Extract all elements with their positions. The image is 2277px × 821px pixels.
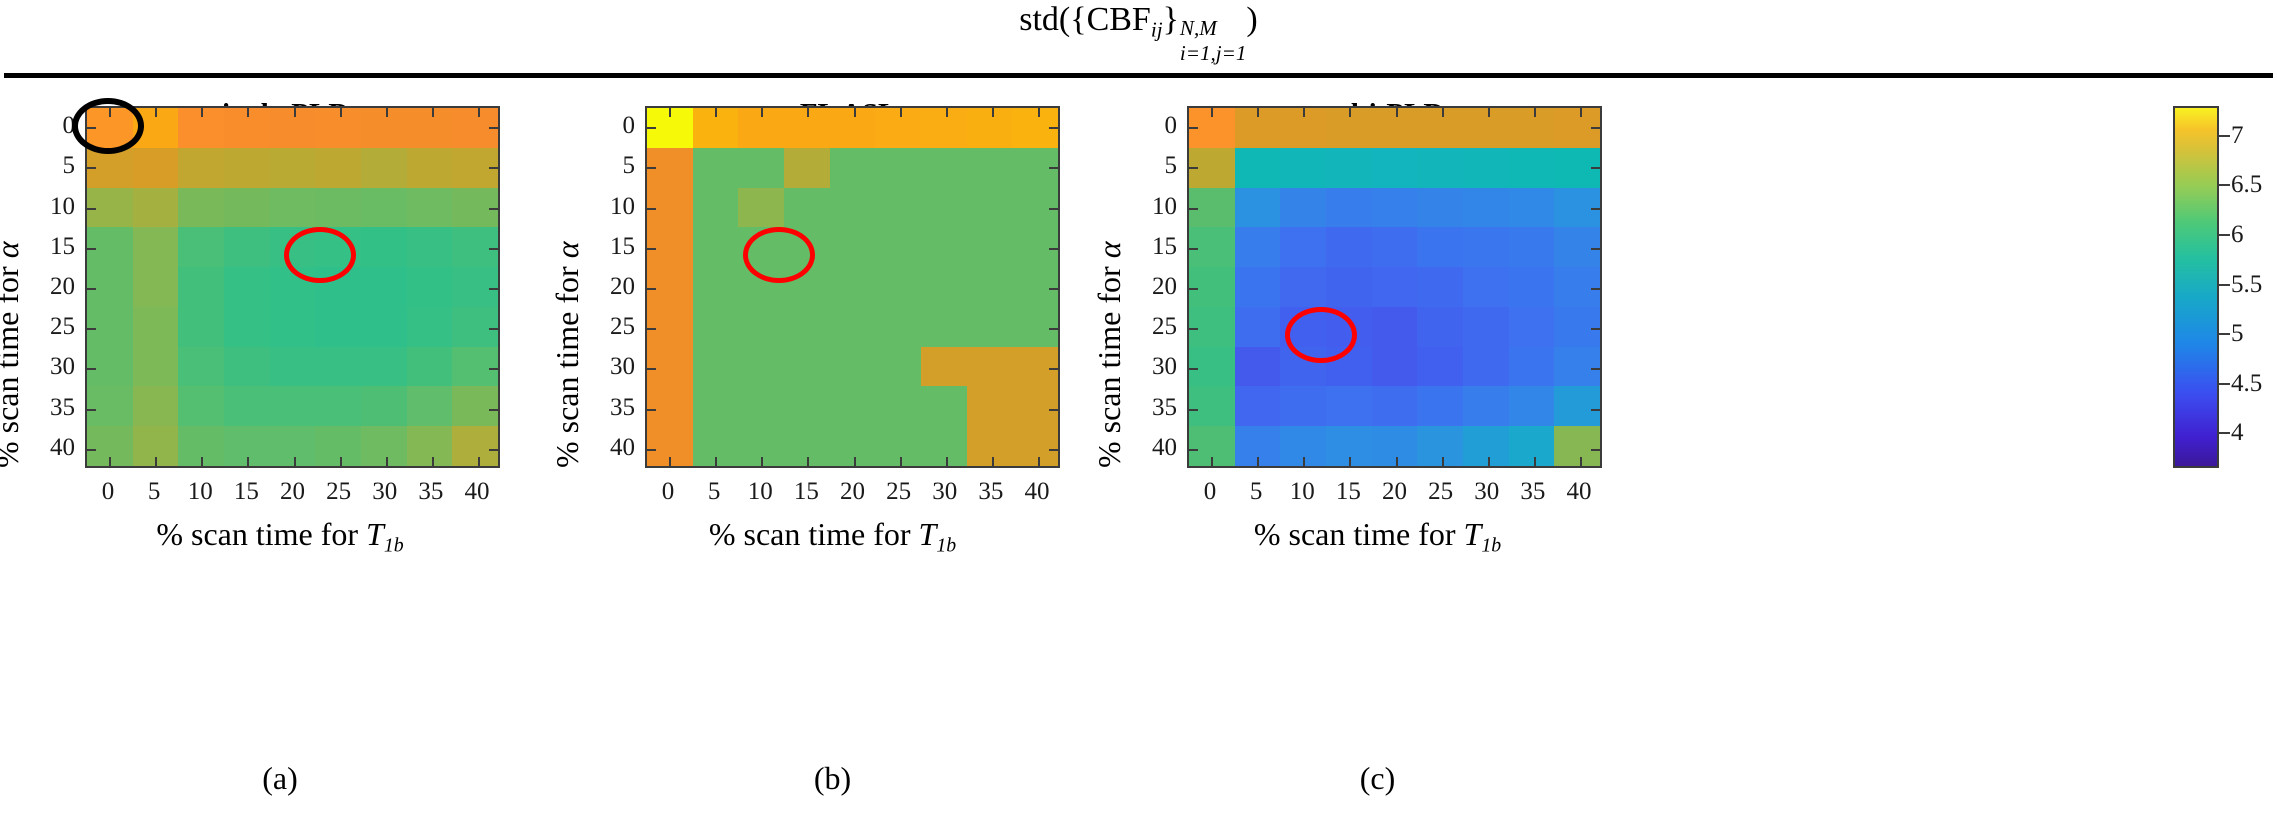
heatmap-cell (1280, 227, 1326, 267)
heatmap-cell (1417, 347, 1463, 387)
x-tick-mark (432, 457, 434, 466)
y-axis-title-symbol: α (0, 242, 25, 259)
heatmap-cell (784, 188, 830, 228)
heatmap-cell (407, 148, 453, 188)
x-tick-mark (294, 457, 296, 466)
y-tick-mark (489, 328, 498, 330)
heatmap-cell (921, 347, 967, 387)
heatmap-cell (1012, 307, 1058, 347)
y-tick-mark (1591, 167, 1600, 169)
x-tick-label: 20 (280, 478, 305, 506)
red-ellipse-marker (284, 227, 356, 283)
y-tick-label: 15 (25, 233, 75, 261)
heatmap-cell (224, 347, 270, 387)
heatmap-cell (1554, 347, 1600, 387)
heatmap-cell (1189, 267, 1235, 307)
heatmap-cell (178, 188, 224, 228)
heatmap-cell (1372, 347, 1418, 387)
heatmap-cell (1326, 188, 1372, 228)
heatmap-cell (1463, 267, 1509, 307)
heatmap-cell (361, 188, 407, 228)
heatmap-cell (875, 108, 921, 148)
x-tick-mark (992, 457, 994, 466)
y-tick-mark (1591, 208, 1600, 210)
heatmap-cell (1189, 347, 1235, 387)
panel-c: multi-PLD0510152025303540051015202530354… (1105, 0, 1650, 821)
heatmap-cell (270, 148, 316, 188)
heatmap-cell (784, 347, 830, 387)
y-tick-label: 5 (25, 152, 75, 180)
x-tick-label: 15 (234, 478, 259, 506)
y-axis-title: % scan time for α (1091, 242, 1128, 469)
y-axis-title: % scan time for α (0, 242, 26, 469)
heatmap-cell (133, 267, 179, 307)
x-tick-label: 40 (1024, 478, 1049, 506)
heatmap-cell (1554, 386, 1600, 426)
colorbar-tick-mark (2219, 333, 2230, 335)
colorbar-tick-label: 4 (2231, 419, 2244, 447)
x-tick-label: 20 (840, 478, 865, 506)
x-tick-mark (854, 108, 856, 117)
heatmap-cell (647, 386, 693, 426)
y-tick-mark (647, 288, 656, 290)
heatmap-cell (1463, 347, 1509, 387)
y-tick-mark (1049, 368, 1058, 370)
heatmap-cell (452, 307, 498, 347)
y-tick-mark (1049, 248, 1058, 250)
heatmap-cell (921, 386, 967, 426)
x-tick-label: 25 (326, 478, 351, 506)
colorbar-tick-label: 7 (2231, 122, 2244, 150)
heatmap-cell (315, 426, 361, 466)
heatmap-cell (830, 347, 876, 387)
panel-caption-a: (a) (0, 760, 560, 797)
heatmap-cell (967, 386, 1013, 426)
y-tick-mark (1591, 127, 1600, 129)
heatmap-cell (738, 148, 784, 188)
heatmap-cell (1509, 108, 1555, 148)
heatmap-cell (270, 188, 316, 228)
heatmap-cell (1372, 188, 1418, 228)
y-tick-label: 30 (25, 353, 75, 381)
heatmap-cell (452, 267, 498, 307)
heatmap-cell (1509, 386, 1555, 426)
heatmap-cell (224, 227, 270, 267)
x-axis-title-text: % scan time for (1254, 516, 1464, 552)
heatmap-cell (1012, 426, 1058, 466)
heatmap-cell (693, 267, 739, 307)
heatmap-cell (784, 307, 830, 347)
y-tick-label: 0 (1127, 112, 1177, 140)
y-tick-mark (489, 127, 498, 129)
heatmap-cell (875, 267, 921, 307)
y-tick-label: 30 (1127, 353, 1177, 381)
colorbar-tick-label: 5.5 (2231, 271, 2262, 299)
heatmap-cell (1463, 188, 1509, 228)
heatmap-cell (1509, 148, 1555, 188)
panel-caption-b: (b) (560, 760, 1105, 797)
heatmap-cell (407, 347, 453, 387)
y-tick-mark (1189, 167, 1198, 169)
x-axis-title-text: % scan time for (156, 516, 366, 552)
y-tick-mark (87, 328, 96, 330)
heatmap-cell (1235, 148, 1281, 188)
x-tick-mark (1257, 108, 1259, 117)
x-tick-mark (1580, 457, 1582, 466)
heatmap-cell (178, 347, 224, 387)
y-tick-mark (647, 167, 656, 169)
x-axis-title-subscript: 1b (384, 534, 404, 556)
colorbar-tick-mark (2219, 432, 2230, 434)
heatmap-cell (133, 227, 179, 267)
x-tick-mark (1488, 108, 1490, 117)
heatmap-cell (1417, 227, 1463, 267)
x-tick-label: 20 (1382, 478, 1407, 506)
x-tick-label: 5 (1250, 478, 1263, 506)
heatmap-cell (315, 386, 361, 426)
colorbar-tick-mark (2219, 234, 2230, 236)
heatmap-cell (407, 227, 453, 267)
heatmap-cell (738, 386, 784, 426)
heatmap-cell (921, 148, 967, 188)
heatmap-cell (1509, 267, 1555, 307)
y-tick-mark (1591, 449, 1600, 451)
y-axis-title-symbol: α (549, 242, 585, 259)
y-tick-mark (1591, 409, 1600, 411)
x-tick-mark (669, 108, 671, 117)
heatmap-cell (784, 148, 830, 188)
x-tick-mark (386, 108, 388, 117)
x-axis-title-text: % scan time for (709, 516, 919, 552)
x-tick-mark (386, 457, 388, 466)
x-axis-title: % scan time for T1b (560, 516, 1105, 557)
heatmap-cell (967, 108, 1013, 148)
heatmap-cell (1554, 267, 1600, 307)
heatmap-cell (1280, 148, 1326, 188)
y-tick-mark (87, 449, 96, 451)
heatmap-cell (830, 108, 876, 148)
heatmap-grid (1189, 108, 1600, 466)
heatmap-cell (1189, 386, 1235, 426)
x-tick-mark (201, 457, 203, 466)
heatmap-cell (178, 148, 224, 188)
x-tick-mark (247, 108, 249, 117)
y-tick-label: 30 (585, 353, 635, 381)
y-tick-mark (489, 208, 498, 210)
heatmap-cell (875, 386, 921, 426)
x-tick-mark (1396, 108, 1398, 117)
y-tick-mark (87, 288, 96, 290)
heatmap-cell (224, 307, 270, 347)
heatmap-cell (407, 386, 453, 426)
heatmap-cell (407, 307, 453, 347)
y-tick-mark (489, 248, 498, 250)
y-tick-mark (87, 167, 96, 169)
x-tick-mark (1349, 457, 1351, 466)
x-tick-mark (1211, 457, 1213, 466)
y-tick-label: 5 (1127, 152, 1177, 180)
x-axis-title: % scan time for T1b (0, 516, 560, 557)
x-tick-mark (1396, 457, 1398, 466)
colorbar-gradient (2173, 106, 2219, 468)
x-tick-mark (1257, 457, 1259, 466)
heatmap-cell (875, 307, 921, 347)
heatmap-cell (1372, 307, 1418, 347)
heatmap-cell (1463, 426, 1509, 466)
x-axis-title-subscript: 1b (1481, 534, 1501, 556)
heatmap-cell (738, 307, 784, 347)
heatmap-b[interactable] (645, 106, 1060, 468)
colorbar-tick-mark (2219, 135, 2230, 137)
heatmap-cell (315, 188, 361, 228)
x-axis-title-symbol: T (366, 516, 384, 552)
heatmap-cell (1372, 386, 1418, 426)
x-tick-mark (432, 108, 434, 117)
x-tick-mark (1211, 108, 1213, 117)
x-tick-mark (1038, 457, 1040, 466)
x-tick-mark (900, 108, 902, 117)
heatmap-cell (830, 426, 876, 466)
heatmap-cell (738, 188, 784, 228)
x-tick-mark (1580, 108, 1582, 117)
heatmap-cell (784, 386, 830, 426)
x-tick-mark (1488, 457, 1490, 466)
heatmap-cell (224, 188, 270, 228)
heatmap-cell (270, 108, 316, 148)
heatmap-cell (921, 426, 967, 466)
heatmap-cell (407, 267, 453, 307)
y-tick-mark (489, 288, 498, 290)
black-ellipse-marker (72, 98, 144, 154)
heatmap-cell (921, 108, 967, 148)
x-tick-mark (340, 457, 342, 466)
x-tick-mark (669, 457, 671, 466)
x-tick-label: 25 (886, 478, 911, 506)
heatmap-cell (693, 188, 739, 228)
heatmap-cell (1417, 148, 1463, 188)
heatmap-c[interactable] (1187, 106, 1602, 468)
y-tick-label: 25 (1127, 313, 1177, 341)
heatmap-cell (1372, 426, 1418, 466)
heatmap-cell (361, 386, 407, 426)
colorbar-tick-label: 5 (2231, 320, 2244, 348)
heatmap-cell (407, 188, 453, 228)
x-tick-label: 30 (1474, 478, 1499, 506)
x-tick-label: 40 (464, 478, 489, 506)
heatmap-cell (178, 267, 224, 307)
heatmap-cell (361, 307, 407, 347)
heatmap-cell (693, 386, 739, 426)
heatmap-cell (87, 386, 133, 426)
colorbar-tick-label: 6 (2231, 221, 2244, 249)
heatmap-cell (407, 108, 453, 148)
x-tick-mark (1303, 457, 1305, 466)
heatmap-cell (1463, 148, 1509, 188)
y-tick-mark (1049, 167, 1058, 169)
heatmap-cell (1509, 347, 1555, 387)
heatmap-cell (178, 227, 224, 267)
y-tick-mark (1189, 368, 1198, 370)
heatmap-cell (1235, 307, 1281, 347)
heatmap-cell (1012, 267, 1058, 307)
heatmap-cell (452, 347, 498, 387)
heatmap-cell (270, 386, 316, 426)
x-tick-mark (854, 457, 856, 466)
heatmap-cell (921, 267, 967, 307)
y-tick-label: 20 (25, 273, 75, 301)
y-tick-label: 10 (585, 193, 635, 221)
x-tick-label: 30 (372, 478, 397, 506)
y-tick-mark (647, 409, 656, 411)
heatmap-cell (1417, 307, 1463, 347)
heatmap-cell (452, 426, 498, 466)
heatmap-cell (1012, 386, 1058, 426)
heatmap-cell (1509, 307, 1555, 347)
heatmap-cell (1326, 227, 1372, 267)
y-tick-label: 20 (585, 273, 635, 301)
x-tick-mark (1349, 108, 1351, 117)
x-tick-label: 40 (1566, 478, 1591, 506)
x-tick-label: 0 (1204, 478, 1217, 506)
x-tick-mark (761, 108, 763, 117)
heatmap-cell (875, 148, 921, 188)
colorbar-tick-label: 4.5 (2231, 370, 2262, 398)
x-tick-label: 5 (708, 478, 721, 506)
y-tick-label: 35 (1127, 394, 1177, 422)
x-tick-mark (1303, 108, 1305, 117)
y-tick-mark (647, 208, 656, 210)
heatmap-cell (1463, 108, 1509, 148)
heatmap-cell (1509, 426, 1555, 466)
heatmap-cell (270, 307, 316, 347)
x-axis-title: % scan time for T1b (1105, 516, 1650, 557)
heatmap-cell (178, 307, 224, 347)
heatmap-cell (1463, 227, 1509, 267)
y-tick-mark (1189, 208, 1198, 210)
heatmap-cell (224, 386, 270, 426)
heatmap-cell (738, 347, 784, 387)
y-axis-title-symbol: α (1091, 242, 1127, 259)
y-tick-mark (647, 248, 656, 250)
heatmap-cell (87, 267, 133, 307)
x-tick-label: 5 (148, 478, 161, 506)
heatmap-cell (270, 347, 316, 387)
heatmap-cell (133, 307, 179, 347)
heatmap-cell (921, 227, 967, 267)
colorbar: 76.565.554.54 (2173, 106, 2219, 468)
y-tick-mark (647, 328, 656, 330)
y-tick-label: 15 (1127, 233, 1177, 261)
heatmap-a[interactable] (85, 106, 500, 468)
heatmap-cell (921, 188, 967, 228)
y-tick-label: 40 (1127, 434, 1177, 462)
heatmap-cell (830, 386, 876, 426)
heatmap-cell (647, 307, 693, 347)
heatmap-cell (967, 426, 1013, 466)
colorbar-tick-mark (2219, 184, 2230, 186)
heatmap-cell (1235, 386, 1281, 426)
y-tick-mark (87, 208, 96, 210)
x-tick-mark (1442, 108, 1444, 117)
y-tick-mark (647, 368, 656, 370)
red-ellipse-marker (743, 227, 815, 283)
heatmap-cell (875, 426, 921, 466)
heatmap-cell (921, 307, 967, 347)
x-tick-mark (715, 108, 717, 117)
heatmap-cell (133, 386, 179, 426)
x-tick-mark (478, 108, 480, 117)
y-tick-label: 0 (25, 112, 75, 140)
heatmap-cell (1463, 307, 1509, 347)
heatmap-cell (133, 148, 179, 188)
y-tick-mark (1189, 248, 1198, 250)
red-ellipse-marker (1285, 307, 1357, 363)
heatmap-cell (1235, 267, 1281, 307)
heatmap-cell (830, 227, 876, 267)
heatmap-cell (1554, 307, 1600, 347)
heatmap-cell (1280, 188, 1326, 228)
colorbar-tick-mark (2219, 284, 2230, 286)
x-tick-mark (155, 457, 157, 466)
heatmap-grid (87, 108, 498, 466)
x-tick-mark (761, 457, 763, 466)
y-tick-mark (1189, 288, 1198, 290)
y-tick-mark (87, 248, 96, 250)
heatmap-cell (133, 188, 179, 228)
y-tick-mark (1049, 328, 1058, 330)
heatmap-cell (87, 347, 133, 387)
heatmap-cell (315, 148, 361, 188)
x-tick-mark (900, 457, 902, 466)
x-tick-label: 10 (188, 478, 213, 506)
heatmap-cell (1417, 108, 1463, 148)
x-axis-title-symbol: T (919, 516, 937, 552)
x-tick-mark (1534, 108, 1536, 117)
heatmap-cell (967, 188, 1013, 228)
heatmap-cell (224, 148, 270, 188)
y-tick-label: 10 (1127, 193, 1177, 221)
heatmap-cell (1012, 347, 1058, 387)
y-tick-mark (1189, 449, 1198, 451)
heatmap-cell (830, 148, 876, 188)
heatmap-grid (647, 108, 1058, 466)
y-tick-mark (647, 449, 656, 451)
x-tick-label: 35 (978, 478, 1003, 506)
y-tick-mark (87, 368, 96, 370)
y-tick-label: 25 (25, 313, 75, 341)
heatmap-cell (693, 227, 739, 267)
y-tick-mark (1049, 409, 1058, 411)
y-tick-label: 40 (25, 434, 75, 462)
heatmap-cell (1509, 227, 1555, 267)
y-tick-mark (1049, 208, 1058, 210)
x-tick-mark (1534, 457, 1536, 466)
heatmap-cell (967, 267, 1013, 307)
heatmap-cell (224, 267, 270, 307)
y-tick-label: 35 (585, 394, 635, 422)
heatmap-cell (875, 347, 921, 387)
heatmap-cell (1417, 188, 1463, 228)
heatmap-cell (270, 426, 316, 466)
x-tick-mark (201, 108, 203, 117)
y-tick-mark (489, 409, 498, 411)
heatmap-cell (1235, 347, 1281, 387)
panel-a: single-PLD051015202530354005101520253035… (0, 0, 560, 821)
x-tick-label: 35 (1520, 478, 1545, 506)
heatmap-cell (1235, 227, 1281, 267)
x-tick-label: 10 (1290, 478, 1315, 506)
y-axis-title-text: % scan time for (1091, 258, 1127, 468)
